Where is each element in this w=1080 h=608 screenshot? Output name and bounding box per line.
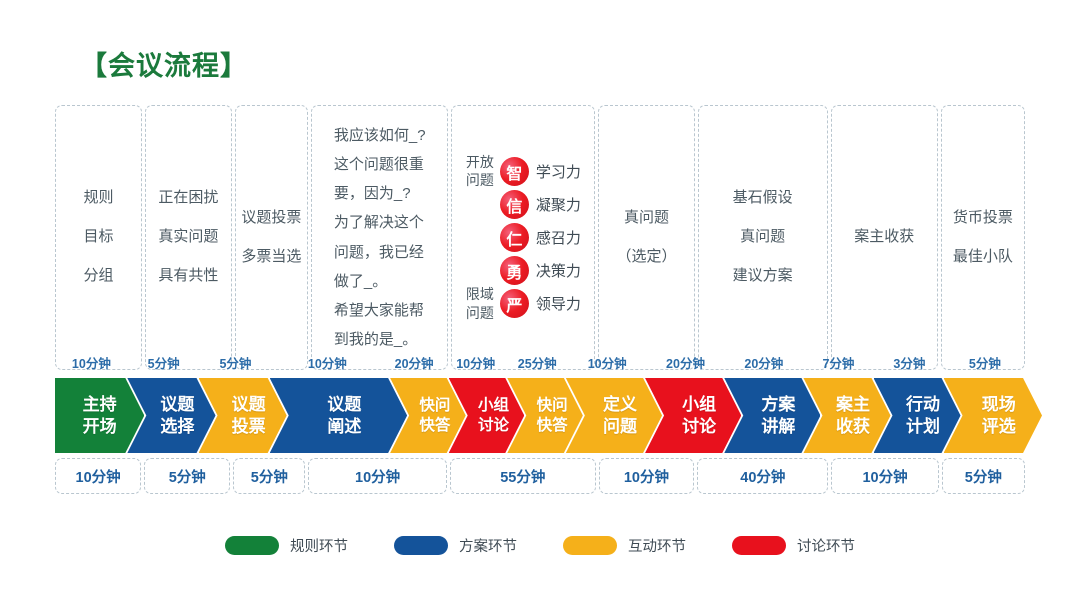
step-minutes-rapid-qa-2: 25分钟 (506, 352, 568, 372)
step-label-line2: 讨论 (478, 416, 509, 436)
process-arrow-band: 主持开场议题选择议题投票议题阐述快问快答小组讨论快问快答定义问题小组讨论方案讲解… (55, 378, 1025, 453)
step-label-line1: 快问 (419, 396, 450, 416)
detail-line: 分组 (83, 267, 113, 286)
step-label-line2: 开场 (83, 416, 117, 438)
step-label-line2: 评选 (982, 416, 1016, 438)
step-label: 行动计划 (894, 394, 940, 438)
detail-line: 正在困扰 (158, 189, 218, 208)
group-minutes-group-3: 5分钟 (233, 458, 305, 494)
virtue-circle-icon: 严 (500, 289, 529, 318)
detail-line: 议题投票 (241, 209, 301, 228)
virtue-label: 领导力 (536, 293, 581, 314)
detail-text: 正在困扰真实问题具有共性 (158, 189, 218, 285)
process-step-topic-state[interactable]: 议题阐述 (270, 378, 407, 453)
step-minutes-topic-select: 5分钟 (128, 352, 200, 372)
legend-color-swatch (732, 536, 786, 555)
step-label-line2: 收获 (836, 416, 870, 438)
step-label-line2: 讲解 (761, 416, 795, 438)
step-label-line1: 案主 (836, 394, 870, 416)
legend-label: 规则环节 (290, 535, 348, 556)
step-label-line1: 方案 (761, 394, 795, 416)
detail-box-topic-statement: 我应该如何_?这个问题很重要，因为_?为了解决这个问题，我已经做了_。希望大家能… (311, 105, 449, 370)
step-label-line1: 主持 (83, 394, 117, 416)
detail-line: （选定） (616, 248, 676, 267)
group-minutes-group-1: 10分钟 (55, 458, 141, 494)
legend-color-swatch (394, 536, 448, 555)
virtue-circle-icon: 信 (500, 190, 529, 219)
detail-line: 真问题 (624, 209, 669, 228)
step-minutes-topic-vote: 5分钟 (200, 352, 272, 372)
step-minutes-define-problem: 10分钟 (568, 352, 646, 372)
legend-rules: 规则环节 (225, 535, 348, 556)
virtue-circle-icon: 勇 (500, 256, 529, 285)
detail-box-topic-selection: 正在困扰真实问题具有共性 (145, 105, 232, 370)
virtue-item-仁: 仁感召力 (500, 223, 581, 252)
legend-label: 互动环节 (628, 535, 686, 556)
virtue-list: 智学习力信凝聚力仁感召力勇决策力严领导力 (500, 157, 581, 318)
virtue-left-label: 限域 (466, 285, 494, 304)
detail-line: 要，因为_? (334, 182, 411, 205)
legend-plan: 方案环节 (394, 535, 517, 556)
detail-line: 问题，我已经 (334, 241, 424, 264)
detail-line: 希望大家能帮 (334, 299, 424, 322)
step-label: 议题选择 (148, 394, 194, 438)
step-label: 快问快答 (405, 396, 450, 436)
step-minutes-host-opening: 10分钟 (55, 352, 128, 372)
detail-box-five-virtues: 开放问题限域问题智学习力信凝聚力仁感召力勇决策力严领导力 (451, 105, 595, 370)
step-minutes-action-plan: 3分钟 (874, 352, 945, 372)
detail-box-owner-harvest: 案主收获 (831, 105, 938, 370)
virtue-item-勇: 勇决策力 (500, 256, 581, 285)
detail-text: 货币投票最佳小队 (953, 209, 1013, 267)
legend: 规则环节方案环节互动环节讨论环节 (0, 535, 1080, 556)
step-label: 快问快答 (523, 396, 568, 436)
step-label-line2: 问题 (603, 416, 637, 438)
step-label-line2: 讨论 (682, 416, 716, 438)
step-label-line1: 小组 (478, 396, 509, 416)
detail-box-onsite-selection: 货币投票最佳小队 (941, 105, 1025, 370)
step-label: 议题投票 (220, 394, 266, 438)
step-minutes-owner-harvest: 7分钟 (803, 352, 874, 372)
step-minutes-team-discuss-1: 10分钟 (445, 352, 507, 372)
process-step-host-opening[interactable]: 主持开场 (55, 378, 144, 453)
detail-line: 目标 (83, 228, 113, 247)
step-label-line1: 议题 (327, 394, 361, 416)
step-label-line2: 阐述 (327, 416, 361, 438)
detail-text: 我应该如何_?这个问题很重要，因为_?为了解决这个问题，我已经做了_。希望大家能… (334, 124, 426, 352)
group-minutes-group-8: 10分钟 (831, 458, 938, 494)
detail-line: 到我的是_。 (334, 328, 417, 351)
step-label: 主持开场 (83, 394, 117, 438)
step-minutes-onsite-vote: 5分钟 (945, 352, 1025, 372)
group-minutes-group-6: 10分钟 (599, 458, 695, 494)
step-minutes-topic-state: 10分钟 (271, 352, 383, 372)
group-minutes-group-2: 5分钟 (144, 458, 230, 494)
detail-line: 规则 (83, 189, 113, 208)
detail-line: 做了_。 (334, 270, 387, 293)
step-label: 现场评选 (970, 394, 1016, 438)
detail-box-topic-vote: 议题投票多票当选 (235, 105, 308, 370)
step-label-line2: 快答 (537, 416, 568, 436)
virtue-left-label: 问题 (466, 304, 494, 323)
step-label: 案主收获 (824, 394, 870, 438)
step-label-line2: 投票 (232, 416, 266, 438)
legend-discussion: 讨论环节 (732, 535, 855, 556)
detail-line: 建议方案 (733, 267, 793, 286)
virtue-circle-icon: 仁 (500, 223, 529, 252)
step-label: 定义问题 (591, 394, 637, 438)
step-label: 小组讨论 (464, 396, 509, 436)
detail-text: 基石假设真问题建议方案 (733, 189, 793, 285)
detail-line: 这个问题很重 (334, 153, 424, 176)
detail-line: 真实问题 (158, 228, 218, 247)
group-minutes-group-9: 5分钟 (942, 458, 1025, 494)
group-minutes-row: 10分钟5分钟5分钟10分钟55分钟10分钟40分钟10分钟5分钟 (55, 458, 1025, 494)
virtue-item-严: 严领导力 (500, 289, 581, 318)
legend-color-swatch (225, 536, 279, 555)
detail-line: 基石假设 (733, 189, 793, 208)
legend-color-swatch (563, 536, 617, 555)
virtue-circle-icon: 智 (500, 157, 529, 186)
detail-line: 为了解决这个 (334, 211, 424, 234)
detail-text: 议题投票多票当选 (241, 209, 301, 267)
step-label-line2: 选择 (160, 416, 194, 438)
virtue-left-label: 开放 (466, 153, 494, 172)
detail-text: 真问题（选定） (616, 209, 676, 267)
step-minutes-team-discuss-2: 20分钟 (646, 352, 724, 372)
step-minutes-plan-present: 20分钟 (725, 352, 803, 372)
step-label-line1: 议题 (232, 394, 266, 416)
step-label-line1: 定义 (603, 394, 637, 416)
detail-box-define-problem: 真问题（选定） (598, 105, 694, 370)
virtue-label: 凝聚力 (536, 194, 581, 215)
legend-interaction: 互动环节 (563, 535, 686, 556)
detail-text: 案主收获 (854, 228, 914, 247)
step-label-line1: 行动 (906, 394, 940, 416)
detail-box-rules: 规则目标分组 (55, 105, 142, 370)
step-label: 议题阐述 (315, 394, 361, 438)
page-title: 【会议流程】 (80, 44, 248, 83)
detail-line: 真问题 (740, 228, 785, 247)
step-minutes-rapid-qa-1: 20分钟 (383, 352, 445, 372)
virtue-item-智: 智学习力 (500, 157, 581, 186)
detail-line: 案主收获 (854, 228, 914, 247)
step-label-line1: 快问 (537, 396, 568, 416)
step-minutes-row: 10分钟5分钟5分钟10分钟20分钟10分钟25分钟10分钟20分钟20分钟7分… (55, 352, 1025, 372)
virtue-left-labels: 开放问题限域问题 (466, 147, 494, 329)
step-label-line2: 计划 (906, 416, 940, 438)
legend-label: 讨论环节 (797, 535, 855, 556)
virtue-label: 学习力 (536, 161, 581, 182)
detail-line: 最佳小队 (953, 248, 1013, 267)
group-minutes-group-7: 40分钟 (697, 458, 828, 494)
virtue-item-信: 信凝聚力 (500, 190, 581, 219)
step-label-line1: 现场 (982, 394, 1016, 416)
detail-text: 规则目标分组 (83, 189, 113, 285)
step-label-line1: 小组 (682, 394, 716, 416)
detail-box-group-discussion: 基石假设真问题建议方案 (698, 105, 828, 370)
group-minutes-group-4: 10分钟 (308, 458, 447, 494)
detail-line: 具有共性 (158, 267, 218, 286)
virtue-label: 感召力 (536, 227, 581, 248)
detail-line: 我应该如何_? (334, 124, 426, 147)
group-minutes-group-5: 55分钟 (450, 458, 596, 494)
step-label-line2: 快答 (419, 416, 450, 436)
detail-line: 多票当选 (241, 248, 301, 267)
detail-line: 货币投票 (953, 209, 1013, 228)
legend-label: 方案环节 (459, 535, 517, 556)
step-label-line1: 议题 (160, 394, 194, 416)
virtue-label: 决策力 (536, 260, 581, 281)
step-label: 小组讨论 (670, 394, 716, 438)
detail-row: 规则目标分组正在困扰真实问题具有共性议题投票多票当选我应该如何_?这个问题很重要… (55, 105, 1025, 370)
step-label: 方案讲解 (749, 394, 795, 438)
virtue-cluster: 开放问题限域问题智学习力信凝聚力仁感召力勇决策力严领导力 (454, 147, 592, 329)
virtue-left-label: 问题 (466, 171, 494, 190)
